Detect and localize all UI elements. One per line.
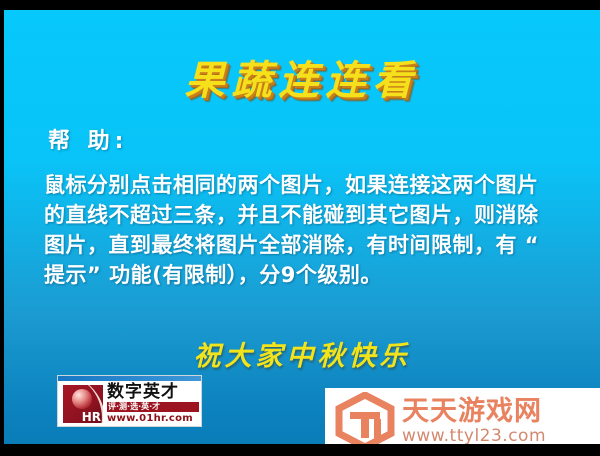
help-line: 图片，直到最终将图片全部消除，有时间限制，有 “ xyxy=(44,230,574,260)
brand-name: 数字英才 xyxy=(107,383,199,401)
help-line: 提示” 功能(有限制），分9个级别。 xyxy=(44,260,574,290)
watermark-site-url[interactable]: www.ttyl23.com xyxy=(402,426,546,445)
brand-logo-topbar xyxy=(58,376,201,381)
brand-logo-text: 数字英才 评·测·选·英·才 www.01hr.com xyxy=(107,383,199,425)
game-help-screen: 果蔬连连看 帮 助: 鼠标分别点击相同的两个图片，如果连接这两个图片 的直线不超… xyxy=(0,0,600,456)
help-line: 的直线不超过三条，并且不能碰到其它图片，则消除 xyxy=(44,200,574,230)
help-line: 鼠标分别点击相同的两个图片，如果连接这两个图片 xyxy=(44,170,574,200)
help-panel-background: 果蔬连连看 帮 助: 鼠标分别点击相同的两个图片，如果连接这两个图片 的直线不超… xyxy=(4,10,600,444)
brand-logo[interactable]: HR 数字英才 评·测·选·英·才 www.01hr.com xyxy=(57,375,202,427)
help-instructions: 鼠标分别点击相同的两个图片，如果连接这两个图片 的直线不超过三条，并且不能碰到其… xyxy=(44,170,574,290)
site-watermark[interactable]: 天天游戏网 www.ttyl23.com xyxy=(325,388,600,444)
help-heading: 帮 助: xyxy=(48,123,128,155)
tt-hexagon-icon xyxy=(334,392,396,444)
festival-greeting: 祝大家中秋快乐 xyxy=(4,334,600,373)
hr-sphere-icon: HR xyxy=(63,385,103,423)
brand-url[interactable]: www.01hr.com xyxy=(107,413,199,425)
watermark-text: 天天游戏网 www.ttyl23.com xyxy=(402,397,546,445)
sphere-icon xyxy=(72,389,92,409)
page-title: 果蔬连连看 xyxy=(4,48,600,106)
watermark-site-name: 天天游戏网 xyxy=(402,397,546,426)
brand-mark-label: HR xyxy=(82,411,101,423)
brand-slogan: 评·测·选·英·才 xyxy=(107,402,199,412)
